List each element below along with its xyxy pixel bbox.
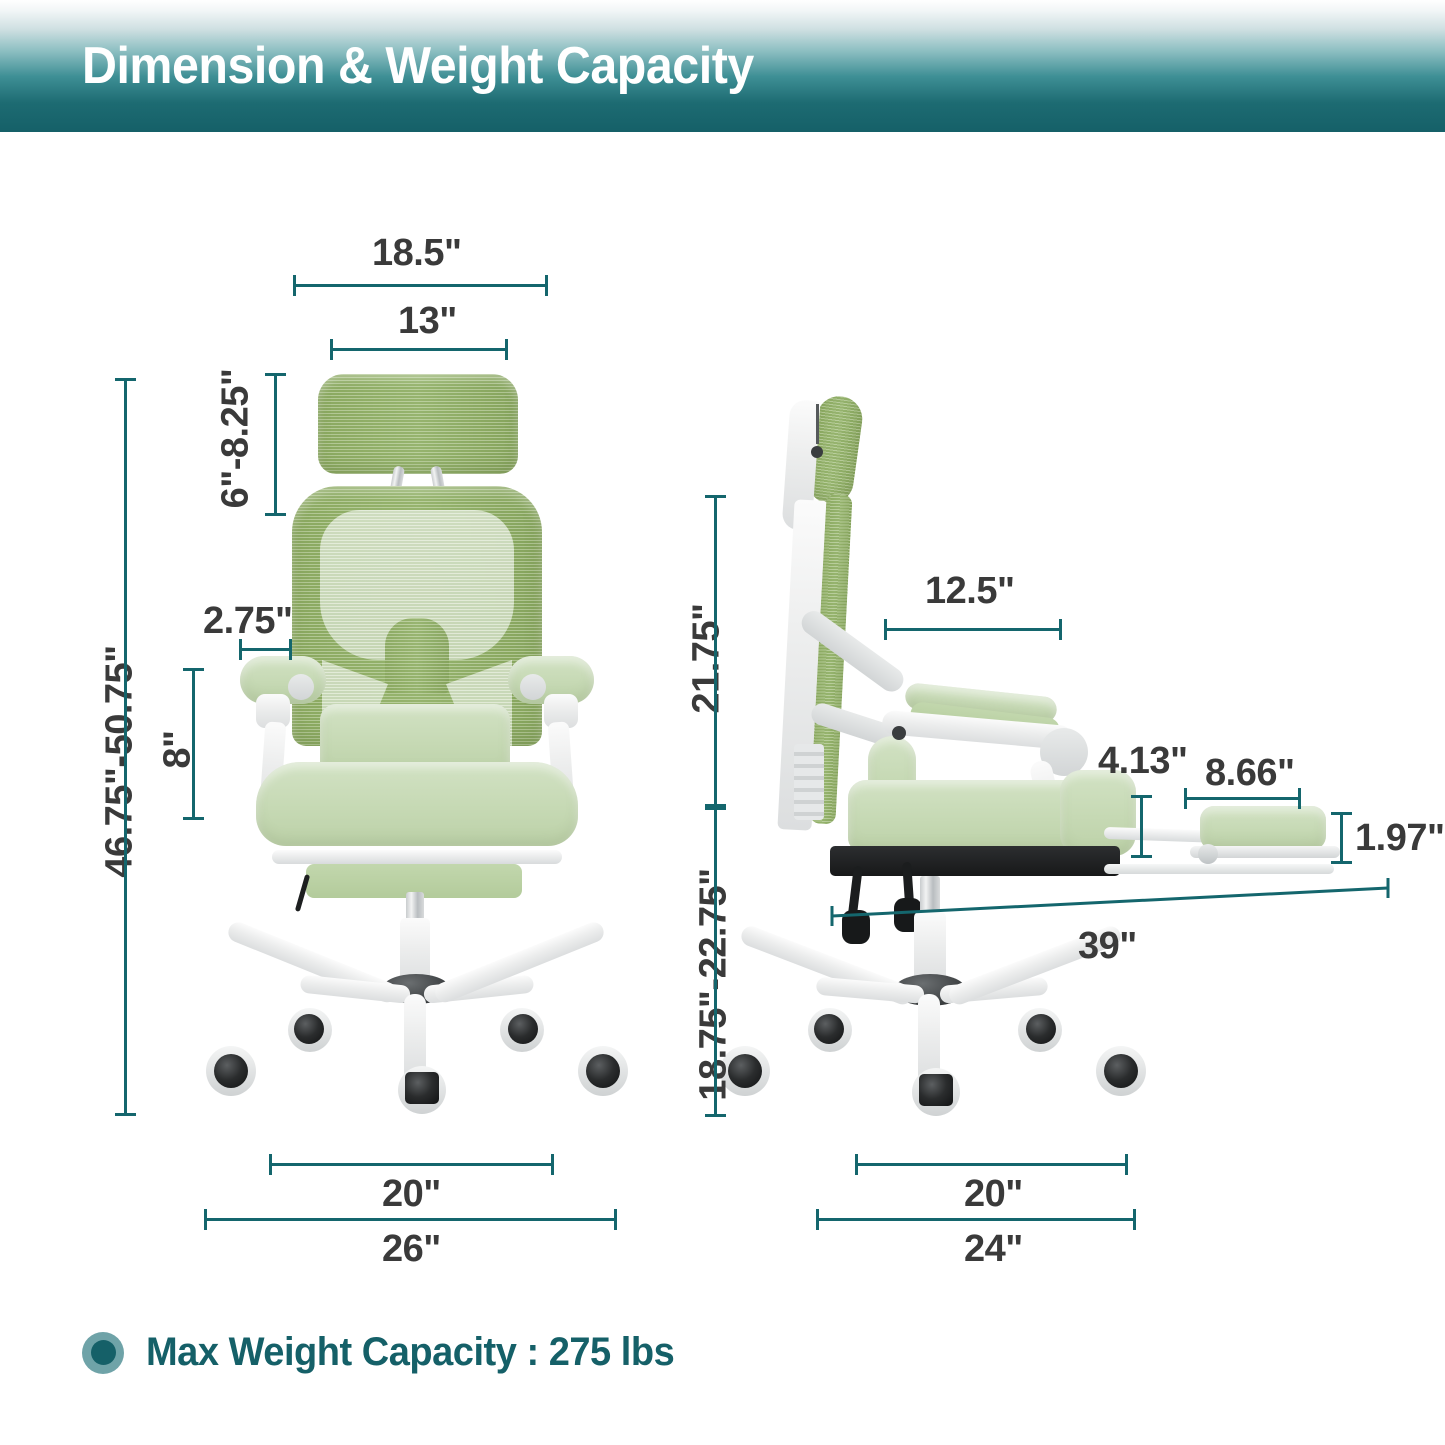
dim-label-headrest-width: 18.5" [372,232,461,275]
headrest-front [318,374,518,474]
dim-line-footrest-thickness [1340,812,1343,864]
dim-line-headrest-height [274,373,277,516]
dim-line-seat-height-range [714,807,717,1117]
chair-side-view [700,0,1445,1300]
headrest-adjuster-icon [816,404,819,444]
caster-side-tire-2 [814,1014,844,1044]
caster-side-tire-4 [1026,1014,1056,1044]
backrest-vent-slats-side [794,744,824,820]
dim-label-total-depth: 39" [1078,925,1137,968]
footrest-hinge-side [1198,844,1218,864]
dim-line-footrest-gap [1140,795,1143,858]
dim-line-base-width-front [204,1218,617,1221]
dim-label-footrest-thickness: 1.97" [1355,817,1444,860]
dim-line-armrest-width [239,648,292,651]
dim-label-headrest-inner-width: 13" [398,300,457,343]
max-weight-row: Max Weight Capacity : 275 lbs [82,1330,702,1375]
dim-label-base-depth-side: 24" [964,1228,1023,1271]
armrest-hinge-right [520,674,546,700]
dim-line-footrest-length [1184,797,1301,800]
dim-line-backrest-depth [884,628,1062,631]
dimension-infographic: Dimension & Weight Capacity [0,0,1445,1445]
caster-side-tire-3 [919,1074,953,1106]
caster-side-tire-5 [1104,1054,1138,1088]
dim-line-overall-height [124,378,127,1116]
filled-circle-icon-inner [91,1340,116,1365]
caster-tire-4 [508,1014,538,1044]
dim-line-base-depth-side [816,1218,1136,1221]
dim-label-backrest-height: 21.75" [686,524,729,794]
dim-label-footrest-gap: 4.13" [1098,740,1187,783]
armrest-pivot-dot-side [892,726,906,740]
armrest-hinge-left [288,674,314,700]
dim-label-seat-depth-side: 20" [964,1173,1023,1216]
dim-line-seat-width-front [269,1163,554,1166]
filled-circle-icon [82,1332,124,1374]
dim-line-backrest-height [714,495,717,807]
dim-line-headrest-inner-width [330,348,508,351]
caster-tire-1 [214,1054,248,1088]
caster-tire-5 [586,1054,620,1088]
caster-tire-2 [294,1014,324,1044]
dim-line-total-depth-svg [820,870,1400,930]
headrest-pivot-dot [811,446,823,458]
dim-label-backrest-depth: 12.5" [925,570,1014,613]
dim-label-overall-height: 46.75"-50.75" [99,537,142,987]
max-weight-label: Max Weight Capacity : 275 lbs [146,1330,674,1375]
backrest-center-support [385,618,449,694]
seat-cushion-front [256,762,578,846]
dim-label-armrest-width: 2.75" [203,600,292,643]
dim-line-seat-depth-side [855,1163,1128,1166]
dim-label-seat-width-front: 20" [382,1173,441,1216]
footrest-pad-side [1200,806,1326,850]
dim-label-footrest-length: 8.66" [1205,752,1294,795]
footrest-rail-front [272,850,562,864]
dim-label-base-width-front: 26" [382,1228,441,1271]
dim-line-headrest-width [293,284,548,287]
dim-line-armrest-height [192,668,195,820]
caster-tire-3 [405,1072,439,1104]
dim-label-headrest-height: 6"-8.25" [215,339,258,539]
